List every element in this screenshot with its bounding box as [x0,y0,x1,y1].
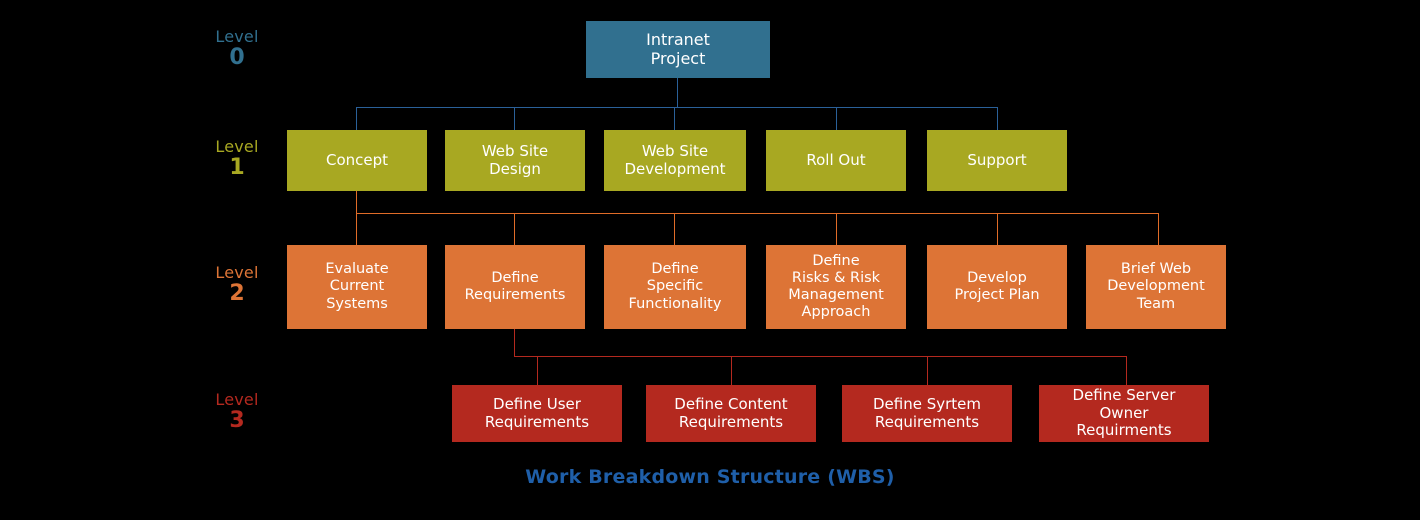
node-define-content-requirements[interactable]: Define Content Requirements [646,385,816,442]
node-develop-project-plan[interactable]: Develop Project Plan [927,245,1067,329]
connector-define-requirements-stem [514,329,515,357]
connector-drop-define-syrtem-requirements [927,356,928,385]
connector-concept-stem [356,191,357,214]
level-label-2-number: 2 [197,282,277,306]
node-web-site-development[interactable]: Web Site Development [604,130,746,191]
connector-drop-web-site-design [514,107,515,130]
level-label-3-word: Level [197,391,277,408]
connector-level3-bus [514,356,1127,357]
connector-level1-bus [356,107,998,108]
node-define-user-requirements[interactable]: Define User Requirements [452,385,622,442]
diagram-caption: Work Breakdown Structure (WBS) [0,466,1420,488]
connector-drop-evaluate-current-systems [356,213,357,245]
node-evaluate-current-systems[interactable]: Evaluate Current Systems [287,245,427,329]
connector-drop-support [997,107,998,130]
connector-drop-develop-project-plan [997,213,998,245]
level-label-1-number: 1 [197,156,277,180]
node-define-risks-and-risk-management-approach[interactable]: Define Risks & Risk Management Approach [766,245,906,329]
connector-drop-define-requirements [514,213,515,245]
node-define-syrtem-requirements[interactable]: Define Syrtem Requirements [842,385,1012,442]
level-label-0: Level 0 [197,28,277,70]
connector-drop-concept [356,107,357,130]
wbs-diagram-canvas: Level 0 Level 1 Level 2 Level 3 Intranet… [0,0,1420,520]
node-define-server-owner-requirments[interactable]: Define Server Owner Requirments [1039,385,1209,442]
level-label-1: Level 1 [197,138,277,180]
connector-drop-define-specific-functionality [674,213,675,245]
level-label-2-word: Level [197,264,277,281]
connector-drop-web-site-development [674,107,675,130]
connector-drop-define-content-requirements [731,356,732,385]
node-define-requirements[interactable]: Define Requirements [445,245,585,329]
level-label-1-word: Level [197,138,277,155]
connector-drop-brief-web-development-team [1158,213,1159,245]
node-web-site-design[interactable]: Web Site Design [445,130,585,191]
connector-drop-define-user-requirements [537,356,538,385]
node-concept[interactable]: Concept [287,130,427,191]
node-brief-web-development-team[interactable]: Brief Web Development Team [1086,245,1226,329]
connector-root-stem [677,78,678,108]
connector-drop-roll-out [836,107,837,130]
level-label-3: Level 3 [197,391,277,433]
connector-level2-bus [356,213,1159,214]
connector-drop-define-risks [836,213,837,245]
level-label-3-number: 3 [197,409,277,433]
node-define-specific-functionality[interactable]: Define Specific Functionality [604,245,746,329]
level-label-0-word: Level [197,28,277,45]
node-intranet-project[interactable]: Intranet Project [586,21,770,78]
connector-drop-define-server-owner-requirments [1126,356,1127,385]
level-label-0-number: 0 [197,46,277,70]
node-roll-out[interactable]: Roll Out [766,130,906,191]
node-support[interactable]: Support [927,130,1067,191]
level-label-2: Level 2 [197,264,277,306]
